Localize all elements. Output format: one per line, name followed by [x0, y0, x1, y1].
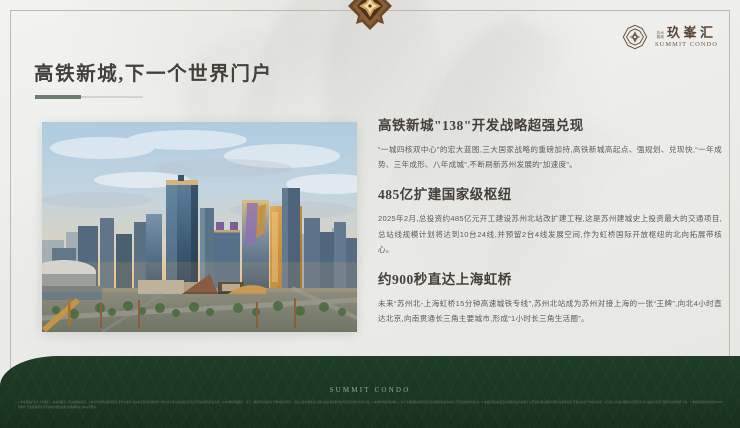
footer-disclaimer: 1.本项目推广名为【玖峯汇】,备案名称为【苏州相城项目】。2.本宣传资料为要约邀…: [18, 400, 722, 410]
brand-name-en: SUMMIT CONDO: [655, 41, 718, 48]
block-body: 2025年2月,总投资约485亿元开工建设苏州北站改扩建工程,这是苏州建城史上投…: [378, 211, 722, 257]
block-heading: 485亿扩建国家级枢纽: [378, 185, 722, 204]
content-block: 约900秒直达上海虹桥 未来“苏州北-上海虹桥15分钟高速城铁专线”,苏州北站成…: [378, 270, 722, 326]
block-heading: 约900秒直达上海虹桥: [378, 270, 722, 289]
brand-wordmark: 苏州 相城 玖峯汇 SUMMIT CONDO: [655, 26, 718, 49]
brand-logo: 苏州 相城 玖峯汇 SUMMIT CONDO: [622, 24, 718, 50]
accent-segment-light: [81, 96, 143, 98]
page-title: 高铁新城,下一个世界门户: [34, 57, 273, 86]
block-body: “一城四核双中心”的宏大蓝图,三大国家战略的重磅加持,高铁新城高起点、强规划、兑…: [378, 142, 722, 172]
ornamental-diamond-crest-icon: [348, 0, 392, 30]
content-block: 485亿扩建国家级枢纽 2025年2月,总投资约485亿元开工建设苏州北站改扩建…: [378, 185, 722, 257]
city-skyline-illustration: [42, 122, 357, 332]
content-column: 高铁新城"138"开发战略超强兑现 “一城四核双中心”的宏大蓝图,三大国家战略的…: [378, 116, 722, 326]
title-accent-rule: [35, 95, 143, 99]
presentation-slide: 苏州 相城 玖峯汇 SUMMIT CONDO 高铁新城,下一个世界门户: [0, 0, 740, 428]
diamond-octagon-emblem-icon: [622, 24, 648, 50]
accent-segment-dark: [35, 95, 81, 99]
block-body: 未来“苏州北-上海虹桥15分钟高速城铁专线”,苏州北站成为苏州对接上海的一张“王…: [378, 296, 722, 326]
city-skyline-photo: [42, 122, 357, 332]
slide-footer: SUMMIT CONDO 1.本项目推广名为【玖峯汇】,备案名称为【苏州相城项目…: [0, 356, 740, 428]
block-heading: 高铁新城"138"开发战略超强兑现: [378, 116, 722, 135]
brand-tiny-bottom: 相城: [656, 35, 664, 40]
brand-name-cn: 玖峯汇: [667, 26, 717, 40]
content-block: 高铁新城"138"开发战略超强兑现 “一城四核双中心”的宏大蓝图,三大国家战略的…: [378, 116, 722, 172]
footer-brand-name: SUMMIT CONDO: [0, 386, 740, 394]
